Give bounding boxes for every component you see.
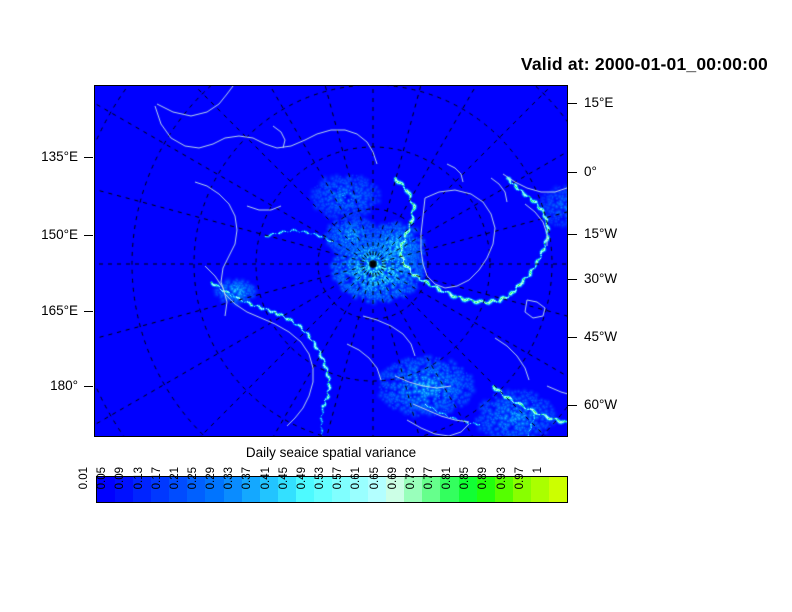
left-axis-label: 150°E [0,228,78,242]
left-axis-label: 135°E [0,150,78,164]
right-axis-tick [568,103,577,104]
colorbar-tick-label: 0.65 [370,467,382,545]
colorbar-tick-label: 0.25 [188,467,200,545]
colorbar-tick-label: 0.69 [388,467,400,545]
colorbar-tick-label: 0.97 [515,467,527,545]
colorbar-tick-label: 0.29 [206,467,218,545]
seaice-variance-heatmap [95,86,568,437]
left-axis-tick [84,157,93,158]
right-axis-label: 30°W [584,272,734,286]
colorbar-tick-label: 0.09 [115,467,127,545]
right-axis-label: 15°W [584,227,734,241]
colorbar-tick-label: 0.85 [460,467,472,545]
right-axis-tick [568,337,577,338]
right-axis-tick [568,279,577,280]
left-axis-tick [84,235,93,236]
left-axis-tick [84,311,93,312]
colorbar-tick-label: 0.13 [134,467,146,545]
left-axis-label: 165°E [0,304,78,318]
colorbar-tick-label: 0.61 [351,467,363,545]
left-axis-label: 180° [0,379,78,393]
colorbar-tick-label: 0.73 [406,467,418,545]
colorbar-tick-label: 0.93 [497,467,509,545]
right-axis-label: 60°W [584,398,734,412]
colorbar-tick-label: 0.05 [97,467,109,545]
right-axis-tick [568,172,577,173]
right-axis-tick [568,405,577,406]
right-axis-label: 0° [584,165,734,179]
map-plot-area [94,85,568,437]
colorbar-tick-label: 0.89 [478,467,490,545]
right-axis-tick [568,234,577,235]
colorbar-segment [549,477,567,502]
left-axis-tick [84,386,93,387]
colorbar-tick-label: 1 [533,467,545,545]
colorbar-caption: Daily seaice spatial variance [94,445,568,460]
colorbar-tick-label: 0.57 [333,467,345,545]
colorbar-tick-label: 0.33 [224,467,236,545]
right-axis-label: 45°W [584,330,734,344]
right-axis-label: 15°E [584,96,734,110]
colorbar-tick-label: 0.77 [424,467,436,545]
colorbar-tick-label: 0.81 [442,467,454,545]
colorbar-tick-label: 0.53 [315,467,327,545]
colorbar-tick-label: 0.37 [242,467,254,545]
colorbar-tick-label: 0.41 [261,467,273,545]
colorbar-tick-label: 0.17 [152,467,164,545]
colorbar-tick-label: 0.45 [279,467,291,545]
colorbar-tick-labels: 0.010.050.090.130.170.210.250.290.330.37… [96,506,568,564]
colorbar-tick-label: 0.49 [297,467,309,545]
colorbar-tick-label: 0.21 [170,467,182,545]
colorbar-tick-label: 0.01 [79,467,91,545]
page-title: Valid at: 2000-01-01_00:00:00 [0,54,768,75]
